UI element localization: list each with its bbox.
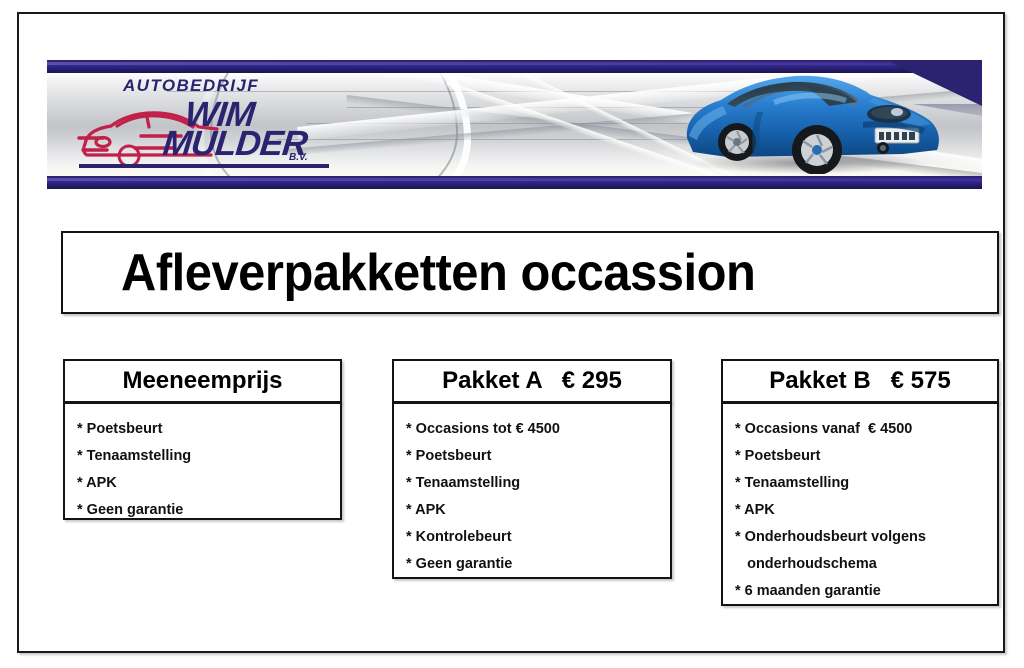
package-item: * Geen garantie — [394, 551, 670, 578]
package-card-pakket-b: Pakket B € 575 * Occasions vanaf € 4500 … — [721, 359, 999, 606]
package-header-meeneemprijs: Meeneemprijs — [63, 359, 342, 403]
banner-bottom-bar — [47, 176, 982, 189]
package-item: onderhoudschema — [723, 551, 997, 578]
package-body-pakket-b: * Occasions vanaf € 4500 * Poetsbeurt * … — [721, 402, 999, 606]
package-item: * Tenaamstelling — [723, 470, 997, 497]
package-header-pakket-b: Pakket B € 575 — [721, 359, 999, 403]
package-item: * Onderhoudsbeurt volgens — [723, 524, 997, 551]
package-header-pakket-a: Pakket A € 295 — [392, 359, 672, 403]
package-item: * Kontrolebeurt — [394, 524, 670, 551]
package-card-pakket-a: Pakket A € 295 * Occasions tot € 4500 * … — [392, 359, 672, 579]
logo-underline — [79, 164, 329, 168]
package-item: * APK — [723, 497, 997, 524]
logo-name-line2: MULDER — [161, 124, 309, 164]
package-item: * Poetsbeurt — [723, 443, 997, 470]
package-item: * Poetsbeurt — [65, 416, 340, 443]
package-item: * APK — [394, 497, 670, 524]
package-item: * Geen garantie — [65, 497, 340, 524]
company-logo: AUTOBEDRIJF WIM MULDER — [77, 76, 347, 168]
package-title: Meeneemprijs — [122, 367, 282, 395]
package-title: Pakket A € 295 — [442, 367, 622, 395]
package-item: * Tenaamstelling — [65, 443, 340, 470]
package-item: * Poetsbeurt — [394, 443, 670, 470]
package-item: * 6 maanden garantie — [723, 578, 997, 605]
package-item: * Occasions tot € 4500 — [394, 416, 670, 443]
company-banner: AUTOBEDRIJF WIM MULDER — [47, 60, 982, 192]
package-item: * Occasions vanaf € 4500 — [723, 416, 997, 443]
package-body-meeneemprijs: * Poetsbeurt * Tenaamstelling * APK * Ge… — [63, 402, 342, 520]
package-body-pakket-a: * Occasions tot € 4500 * Poetsbeurt * Te… — [392, 402, 672, 579]
blue-car-photo — [657, 62, 957, 174]
page-title-box: Afleverpakketten occassion — [61, 231, 999, 314]
package-card-meeneemprijs: Meeneemprijs * Poetsbeurt * Tenaamstelli… — [63, 359, 342, 520]
package-item: * APK — [65, 470, 340, 497]
page-frame: AUTOBEDRIJF WIM MULDER — [17, 12, 1005, 653]
logo-tagline: AUTOBEDRIJF — [123, 76, 259, 96]
package-title: Pakket B € 575 — [769, 367, 950, 395]
page-title: Afleverpakketten occassion — [121, 243, 755, 303]
logo-suffix: B.V. — [289, 152, 308, 163]
package-item: * Tenaamstelling — [394, 470, 670, 497]
